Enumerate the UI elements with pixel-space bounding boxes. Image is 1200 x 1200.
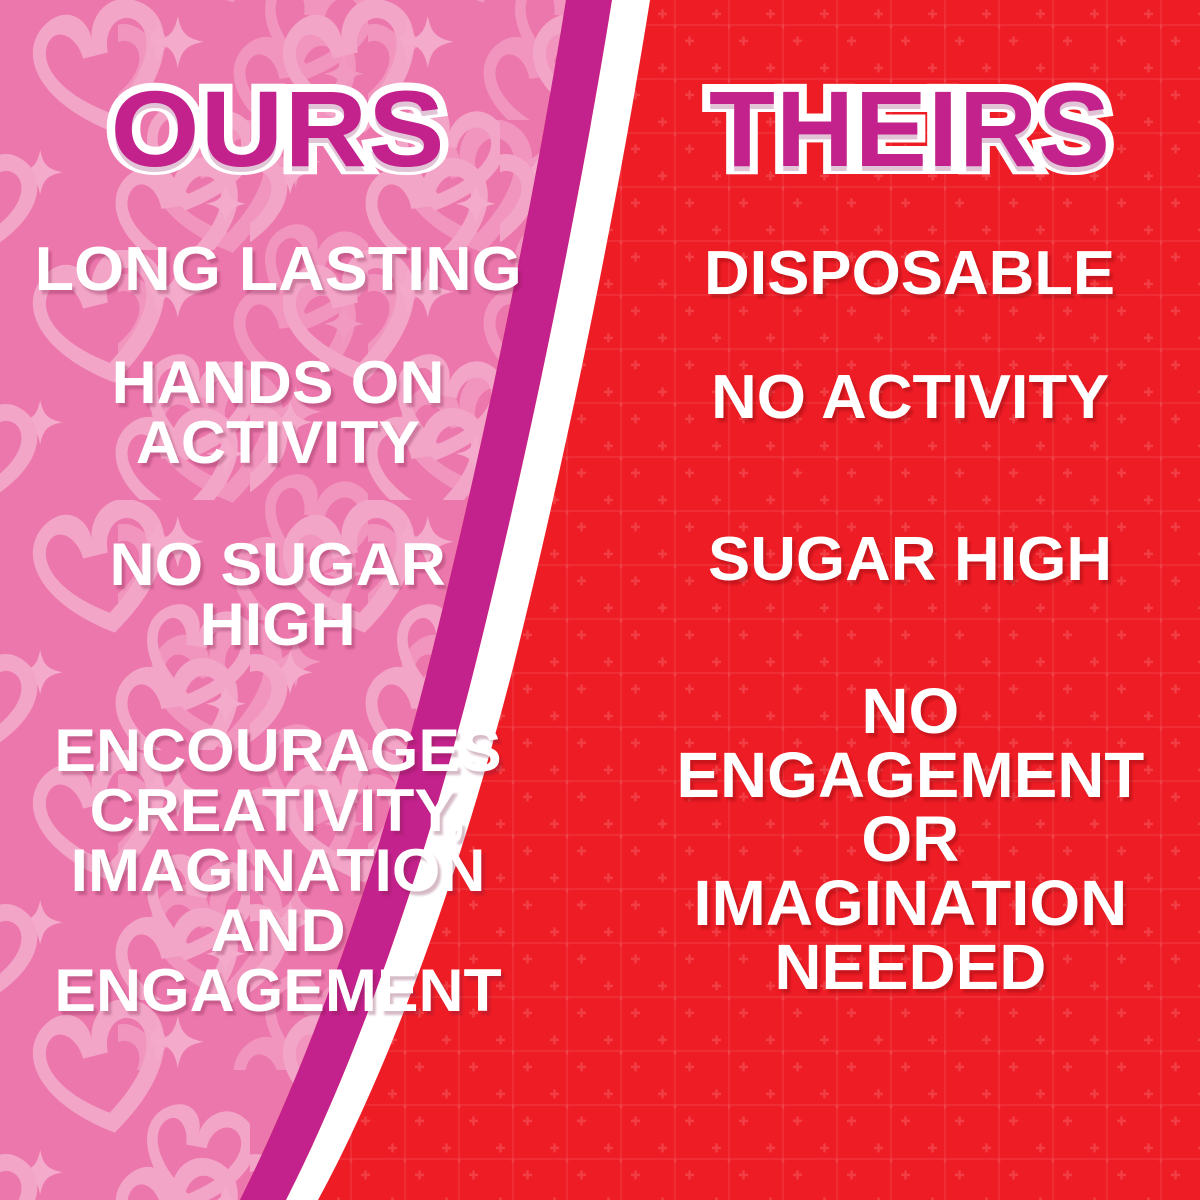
- left-item-4: ENCOURAGES CREATIVITY, IMAGINATION AND E…: [54, 721, 501, 1021]
- left-column-title: OURS: [111, 78, 446, 181]
- right-item-2: NO ACTIVITY: [711, 367, 1109, 429]
- left-item-3: NO SUGAR HIGH: [110, 535, 446, 655]
- left-item-1: LONG LASTING: [34, 239, 521, 301]
- right-item-1: DISPOSABLE: [704, 243, 1115, 305]
- right-column-title: THEIRS: [709, 78, 1111, 181]
- right-item-4: NO ENGAGEMENT OR IMAGINATION NEEDED: [676, 679, 1144, 999]
- left-column: OURS LONG LASTING HANDS ON ACTIVITY NO S…: [0, 0, 556, 1200]
- right-item-3: SUGAR HIGH: [708, 529, 1112, 591]
- left-item-2: HANDS ON ACTIVITY: [112, 353, 445, 473]
- right-column: THEIRS DISPOSABLE NO ACTIVITY SUGAR HIGH…: [620, 0, 1200, 1200]
- comparison-graphic: OURS LONG LASTING HANDS ON ACTIVITY NO S…: [0, 0, 1200, 1200]
